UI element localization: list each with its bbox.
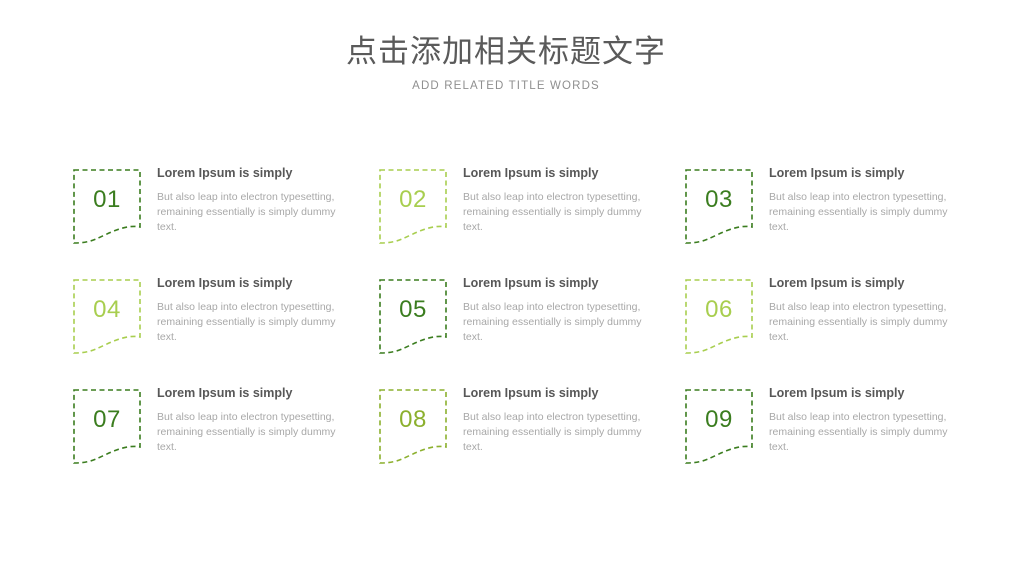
item-body: But also leap into electron typesetting,… [463, 300, 643, 345]
ribbon-badge-06: 06 [684, 278, 754, 356]
ribbon-badge-03: 03 [684, 168, 754, 246]
item-heading: Lorem Ipsum is simply [769, 165, 949, 182]
badge-number: 04 [72, 278, 142, 341]
badge-number: 07 [72, 388, 142, 451]
numbered-item: 09Lorem Ipsum is simplyBut also leap int… [684, 380, 990, 490]
badge-number: 02 [378, 168, 448, 231]
page-title: 点击添加相关标题文字 [0, 32, 1012, 72]
item-text-block: Lorem Ipsum is simplyBut also leap into … [157, 380, 337, 455]
item-body: But also leap into electron typesetting,… [463, 410, 643, 455]
item-text-block: Lorem Ipsum is simplyBut also leap into … [463, 160, 643, 235]
item-body: But also leap into electron typesetting,… [157, 190, 337, 235]
badge-number: 03 [684, 168, 754, 231]
item-text-block: Lorem Ipsum is simplyBut also leap into … [157, 270, 337, 345]
numbered-item: 06Lorem Ipsum is simplyBut also leap int… [684, 270, 990, 380]
ribbon-badge-05: 05 [378, 278, 448, 356]
ribbon-badge-01: 01 [72, 168, 142, 246]
item-body: But also leap into electron typesetting,… [157, 300, 337, 345]
page-subtitle: ADD RELATED TITLE WORDS [0, 78, 1012, 94]
numbered-item: 03Lorem Ipsum is simplyBut also leap int… [684, 160, 990, 270]
ribbon-badge-04: 04 [72, 278, 142, 356]
item-heading: Lorem Ipsum is simply [463, 385, 643, 402]
item-heading: Lorem Ipsum is simply [463, 165, 643, 182]
numbered-item: 02Lorem Ipsum is simplyBut also leap int… [378, 160, 684, 270]
item-text-block: Lorem Ipsum is simplyBut also leap into … [463, 380, 643, 455]
numbered-item: 07Lorem Ipsum is simplyBut also leap int… [72, 380, 378, 490]
badge-number: 01 [72, 168, 142, 231]
badge-number: 06 [684, 278, 754, 341]
item-body: But also leap into electron typesetting,… [463, 190, 643, 235]
badge-number: 05 [378, 278, 448, 341]
numbered-items-grid: 01Lorem Ipsum is simplyBut also leap int… [72, 160, 952, 490]
item-body: But also leap into electron typesetting,… [769, 190, 949, 235]
item-body: But also leap into electron typesetting,… [769, 410, 949, 455]
item-heading: Lorem Ipsum is simply [769, 275, 949, 292]
item-heading: Lorem Ipsum is simply [463, 275, 643, 292]
item-heading: Lorem Ipsum is simply [769, 385, 949, 402]
item-heading: Lorem Ipsum is simply [157, 385, 337, 402]
numbered-item: 01Lorem Ipsum is simplyBut also leap int… [72, 160, 378, 270]
numbered-item: 04Lorem Ipsum is simplyBut also leap int… [72, 270, 378, 380]
numbered-item: 08Lorem Ipsum is simplyBut also leap int… [378, 380, 684, 490]
ribbon-badge-09: 09 [684, 388, 754, 466]
item-heading: Lorem Ipsum is simply [157, 165, 337, 182]
numbered-item: 05Lorem Ipsum is simplyBut also leap int… [378, 270, 684, 380]
item-heading: Lorem Ipsum is simply [157, 275, 337, 292]
item-body: But also leap into electron typesetting,… [769, 300, 949, 345]
item-text-block: Lorem Ipsum is simplyBut also leap into … [769, 270, 949, 345]
ribbon-badge-02: 02 [378, 168, 448, 246]
item-text-block: Lorem Ipsum is simplyBut also leap into … [157, 160, 337, 235]
ribbon-badge-07: 07 [72, 388, 142, 466]
item-text-block: Lorem Ipsum is simplyBut also leap into … [769, 160, 949, 235]
badge-number: 08 [378, 388, 448, 451]
page-header: 点击添加相关标题文字 ADD RELATED TITLE WORDS [0, 32, 1012, 94]
ribbon-badge-08: 08 [378, 388, 448, 466]
item-body: But also leap into electron typesetting,… [157, 410, 337, 455]
item-text-block: Lorem Ipsum is simplyBut also leap into … [769, 380, 949, 455]
item-text-block: Lorem Ipsum is simplyBut also leap into … [463, 270, 643, 345]
badge-number: 09 [684, 388, 754, 451]
